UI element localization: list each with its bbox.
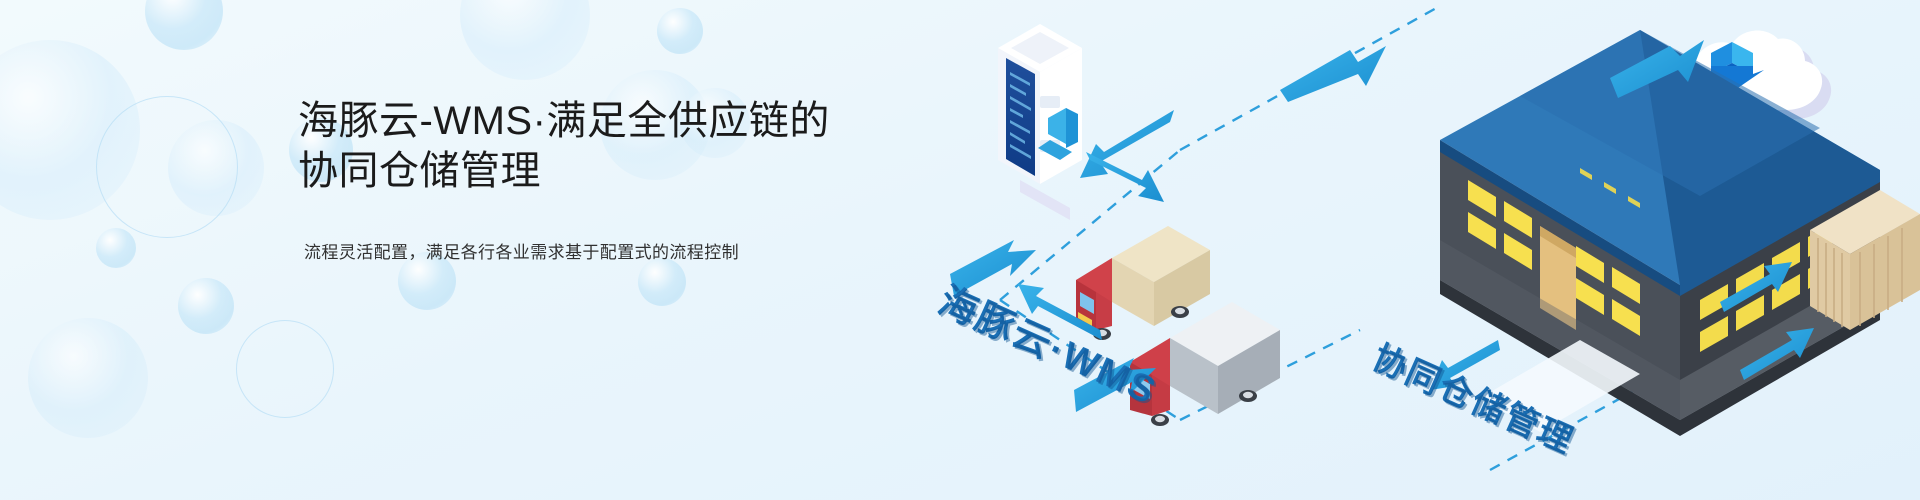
promo-banner: 海豚云-WMS·满足全供应链的 协同仓储管理 流程灵活配置，满足各行各业需求基于… [0,0,1920,500]
decorative-bubble [0,40,140,220]
decorative-bubble [96,228,136,268]
isometric-warehouse-illustration: 海豚云·WMS 海豚云·WMS 协同仓储管理 协同仓储管理 [880,0,1920,500]
decorative-bubble [168,120,264,216]
page-subtitle: 流程灵活配置，满足各行各业需求基于配置式的流程控制 [304,240,958,266]
decorative-bubble [657,8,703,54]
decorative-bubble [178,278,234,334]
server-rack-icon [998,24,1082,220]
decorative-bubble [236,320,334,418]
decorative-bubble [96,96,238,238]
delivery-truck-icon [1076,226,1210,340]
decorative-bubble [145,0,223,50]
decorative-bubble [460,0,590,80]
banner-text-block: 海豚云-WMS·满足全供应链的 协同仓储管理 流程灵活配置，满足各行各业需求基于… [298,96,958,266]
decorative-bubble [28,318,148,438]
page-title: 海豚云-WMS·满足全供应链的 协同仓储管理 [298,96,958,196]
